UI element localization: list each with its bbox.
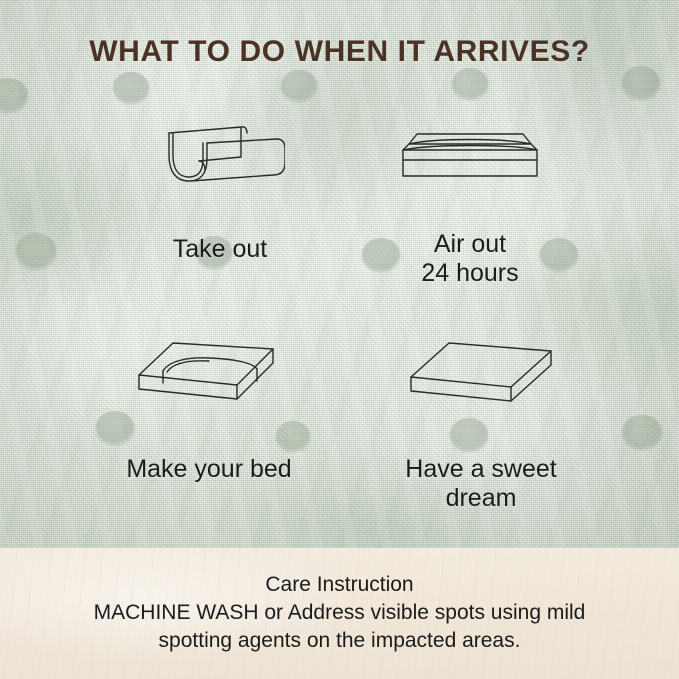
care-instruction-text-block: Care Instruction MACHINE WASH or Address…: [0, 571, 679, 655]
step-label: Take out: [95, 235, 345, 264]
product-infographic-poster: WHAT TO DO WHEN IT ARRIVES? Take out: [0, 0, 679, 679]
step-item-make-your-bed: Make your bed: [68, 335, 350, 484]
rolled-mattress-unrolling-icon: [155, 115, 285, 195]
step-item-air-out: Air out 24 hours: [345, 118, 595, 287]
step-label: Have a sweet dream: [350, 455, 612, 512]
tuft-button-icon: [281, 70, 317, 101]
step-item-take-out: Take out: [95, 115, 345, 264]
plain-mattress-slab-icon: [405, 335, 557, 411]
care-instruction-heading: Care Instruction: [0, 571, 679, 599]
tuft-button-icon: [0, 78, 28, 112]
tuft-button-icon: [113, 72, 149, 103]
tuft-button-icon: [622, 66, 660, 99]
care-instruction-body: MACHINE WASH or Address visible spots us…: [0, 599, 679, 655]
page-title: WHAT TO DO WHEN IT ARRIVES?: [0, 35, 679, 69]
tuft-button-icon: [16, 233, 56, 269]
tuft-button-icon: [452, 68, 488, 99]
step-item-have-a-sweet-dream: Have a sweet dream: [350, 335, 612, 512]
mattress-with-fitted-sheet-icon: [133, 335, 285, 407]
care-instruction-panel: Care Instruction MACHINE WASH or Address…: [0, 548, 679, 679]
step-label: Make your bed: [68, 455, 350, 484]
flat-mattress-front-view-icon: [395, 118, 545, 190]
tuft-button-icon: [622, 415, 662, 449]
step-label: Air out 24 hours: [345, 230, 595, 287]
